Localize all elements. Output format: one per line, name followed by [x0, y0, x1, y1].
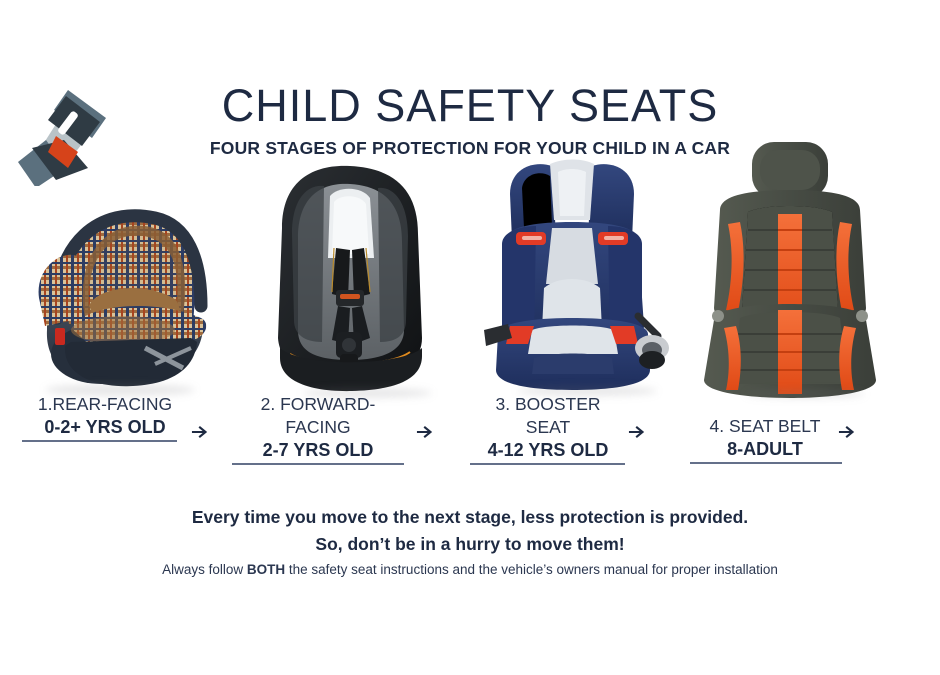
stage-2-name-line1: 2. FORWARD- — [238, 393, 398, 416]
stage-1-age: 0-2+ YRS OLD — [5, 416, 205, 439]
stage-4-column — [690, 132, 920, 382]
convertible-forward-facing-seat-photo — [252, 162, 482, 402]
stage-4-caption: 4. SEAT BELT 8-ADULT — [676, 415, 854, 461]
infant-rear-facing-carrier-photo — [5, 178, 235, 418]
stage-2-age: 2-7 YRS OLD — [238, 439, 398, 462]
footer-note: Always follow BOTH the safety seat instr… — [0, 562, 940, 577]
stage-1-column — [5, 178, 235, 428]
stage-4-name: 4. SEAT BELT — [676, 415, 854, 438]
high-back-booster-seat-photo — [472, 158, 702, 398]
stage-1-arrow-icon — [191, 423, 209, 441]
stage-3-underline — [470, 463, 625, 465]
stage-1-caption: 1.REAR-FACING 0-2+ YRS OLD — [5, 393, 205, 439]
footer-note-bold: BOTH — [247, 562, 285, 577]
stage-2-arrow-icon — [416, 423, 434, 441]
stage-3-name-line1: 3. BOOSTER — [458, 393, 638, 416]
stage-2-caption: 2. FORWARD- FACING 2-7 YRS OLD — [238, 393, 398, 462]
footer-line-2: So, don’t be in a hurry to move them! — [0, 531, 940, 558]
stage-3-caption: 3. BOOSTER SEAT 4-12 YRS OLD — [458, 393, 638, 462]
stage-1-underline — [22, 440, 177, 442]
stage-2-column — [252, 162, 482, 412]
footer-line-1: Every time you move to the next stage, l… — [0, 504, 940, 531]
footer-note-after: the safety seat instructions and the veh… — [285, 562, 778, 577]
footer-note-before: Always follow — [162, 562, 247, 577]
stage-4-arrow-icon — [838, 423, 856, 441]
page-title: CHILD SAFETY SEATS — [0, 82, 940, 129]
stage-4-age: 8-ADULT — [676, 438, 854, 461]
stage-2-underline — [232, 463, 404, 465]
stage-3-arrow-icon — [628, 423, 646, 441]
stage-3-age: 4-12 YRS OLD — [458, 439, 638, 462]
stage-1-name: 1.REAR-FACING — [5, 393, 205, 416]
stage-4-underline — [690, 462, 842, 464]
stage-3-name-line2: SEAT — [458, 416, 638, 439]
footer-emphasis: Every time you move to the next stage, l… — [0, 504, 940, 558]
photo-shadow — [745, 390, 865, 398]
vehicle-seat-with-belt-photo — [690, 132, 920, 372]
stage-3-column — [472, 158, 702, 408]
stage-2-name-line2: FACING — [238, 416, 398, 439]
